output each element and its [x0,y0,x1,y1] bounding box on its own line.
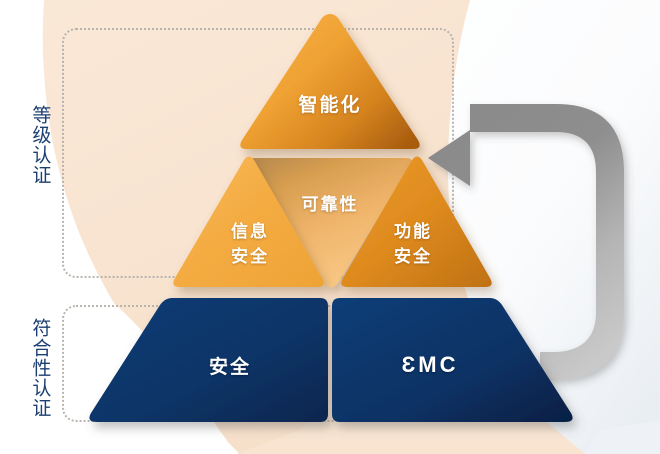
tier-label-reliability: 可靠性 [280,190,380,215]
tier-label-information-security: 信息 安全 [205,220,295,269]
figure-canvas: 等级认证 符合性认证 智能化 可靠性 信息 安全 功能 安全 安全 ƐMC [0,0,660,454]
tier-label-intelligence: 智能化 [282,90,378,117]
tier-label-functional-safety: 功能 安全 [368,220,458,269]
base-label-emc: ƐMC [360,352,500,378]
base-label-safety: 安全 [175,352,285,379]
